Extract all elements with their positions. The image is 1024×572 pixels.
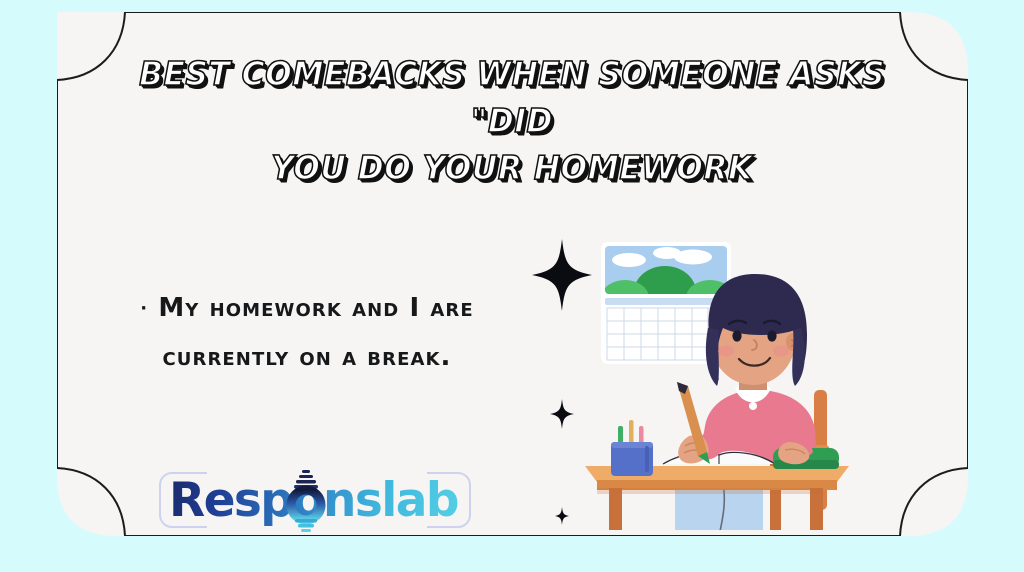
logo[interactable]: Responslab — [155, 464, 475, 536]
logo-text-before: Resp — [169, 473, 292, 528]
page-title: BEST COMEBACKS WHEN SOMEONE ASKS "DID YO… — [137, 50, 888, 191]
bullet-icon: · — [140, 298, 148, 319]
lightbulb-icon — [283, 464, 329, 536]
quote-card: BEST COMEBACKS WHEN SOMEONE ASKS "DID YO… — [57, 12, 968, 536]
quote-text: · My homework and I are currently on a b… — [92, 284, 522, 382]
logo-text-after: nslab — [323, 473, 458, 528]
quote-body: My homework and I are currently on a bre… — [158, 293, 473, 372]
girl-studying-illustration — [567, 230, 867, 530]
pencil-cup — [611, 420, 653, 476]
